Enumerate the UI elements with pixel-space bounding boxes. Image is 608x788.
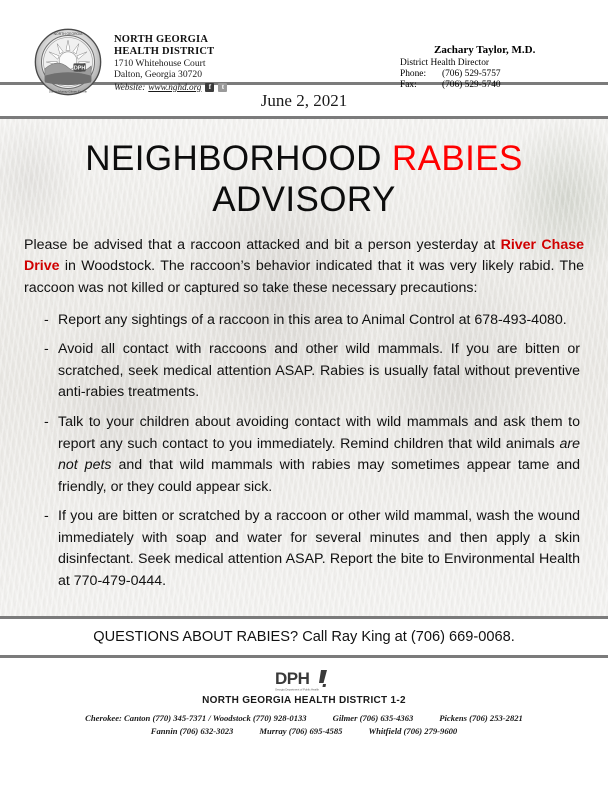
twitter-icon[interactable]: t — [218, 83, 227, 92]
website-label: Website: — [114, 82, 145, 92]
county-contact: Gilmer (706) 635-4363 — [333, 712, 414, 725]
document-header: DPH NORTH GEORGIA Dalton Murray Gilmer F… — [0, 0, 608, 82]
director-name: Zachary Taylor, M.D. — [434, 44, 535, 57]
health-district-seal-icon: DPH NORTH GEORGIA Dalton Murray Gilmer F… — [34, 28, 102, 96]
county-contact: Murray (706) 695-4585 — [259, 725, 342, 738]
phone-value: (706) 529-5757 — [442, 69, 501, 80]
county-contact: Fannin (706) 632-3023 — [151, 725, 234, 738]
fax-label: Fax: — [400, 80, 442, 91]
list-item: Report any sightings of a raccoon in thi… — [44, 310, 580, 332]
precautions-list: Report any sightings of a raccoon in thi… — [44, 310, 580, 593]
advisory-title-part1: NEIGHBORHOOD — [85, 139, 392, 178]
list-item: If you are bitten or scratched by a racc… — [44, 506, 580, 592]
footer-contacts: Cherokee: Canton (770) 345-7371 / Woodst… — [0, 712, 608, 738]
org-address-line2: Dalton, Georgia 30720 — [114, 70, 227, 81]
org-website-row: Website: www.nghd.org f t — [114, 82, 227, 92]
questions-text: QUESTIONS ABOUT RABIES? Call Ray King at… — [93, 629, 515, 645]
svg-text:DPH: DPH — [275, 669, 310, 688]
website-link[interactable]: www.nghd.org — [148, 82, 201, 92]
list-item: Avoid all contact with raccoons and othe… — [44, 339, 580, 404]
org-name-line2: HEALTH DISTRICT — [114, 46, 227, 58]
advisory-title-part2: ADVISORY — [212, 180, 395, 219]
county-contact: Cherokee: Canton (770) 345-7371 / Woodst… — [85, 712, 306, 725]
advisory-content: NEIGHBORHOOD RABIES ADVISORY Please be a… — [0, 139, 608, 593]
director-title: District Health Director — [400, 58, 535, 69]
fax-value: (706) 529-5740 — [442, 80, 501, 91]
document-footer: DPH Georgia Department of Public Health … — [0, 658, 608, 738]
dph-logo-icon: DPH Georgia Department of Public Health — [273, 667, 335, 693]
footer-contacts-row-2: Fannin (706) 632-3023 Murray (706) 695-4… — [0, 725, 608, 738]
fax-row: Fax: (706) 529-5740 — [400, 80, 535, 91]
dph-logo-subtext: Georgia Department of Public Health — [275, 688, 319, 692]
org-address-line1: 1710 Whitehouse Court — [114, 59, 227, 70]
advisory-flyer-page: DPH NORTH GEORGIA Dalton Murray Gilmer F… — [0, 0, 608, 788]
list-item: Talk to your children about avoiding con… — [44, 412, 580, 498]
lead-text-after: in Woodstock. The raccoon’s behavior ind… — [24, 258, 584, 296]
precaution-text: Avoid all contact with raccoons and othe… — [58, 341, 580, 400]
phone-label: Phone: — [400, 69, 442, 80]
county-contact: Whitfield (706) 279-9600 — [368, 725, 457, 738]
precaution-text-before: Talk to your children about avoiding con… — [58, 414, 580, 452]
facebook-icon[interactable]: f — [205, 83, 214, 92]
org-name-line1: NORTH GEORGIA — [114, 34, 227, 46]
advisory-main: NEIGHBORHOOD RABIES ADVISORY Please be a… — [0, 119, 608, 616]
advisory-title-highlight: RABIES — [392, 139, 523, 178]
county-contact: Pickens (706) 253-2821 — [439, 712, 523, 725]
questions-bar: QUESTIONS ABOUT RABIES? Call Ray King at… — [0, 619, 608, 655]
lead-text-before: Please be advised that a raccoon attacke… — [24, 237, 501, 253]
precaution-text: If you are bitten or scratched by a racc… — [58, 508, 580, 589]
svg-text:Dalton Murray Gilmer Fannin: Dalton Murray Gilmer Fannin — [49, 90, 88, 94]
director-block: Zachary Taylor, M.D. District Health Dir… — [400, 44, 535, 91]
svg-text:DPH: DPH — [74, 65, 86, 71]
precaution-text-after: and that wild mammals with rabies may so… — [58, 457, 580, 495]
precaution-text: Report any sightings of a raccoon in thi… — [58, 312, 567, 328]
footer-title: NORTH GEORGIA HEALTH DISTRICT 1-2 — [0, 695, 608, 706]
phone-row: Phone: (706) 529-5757 — [400, 69, 535, 80]
organization-block: NORTH GEORGIA HEALTH DISTRICT 1710 White… — [114, 34, 227, 92]
svg-text:NORTH GEORGIA: NORTH GEORGIA — [54, 32, 83, 36]
footer-contacts-row-1: Cherokee: Canton (770) 345-7371 / Woodst… — [0, 712, 608, 725]
advisory-lead-paragraph: Please be advised that a raccoon attacke… — [24, 235, 584, 300]
advisory-title: NEIGHBORHOOD RABIES ADVISORY — [18, 139, 590, 221]
